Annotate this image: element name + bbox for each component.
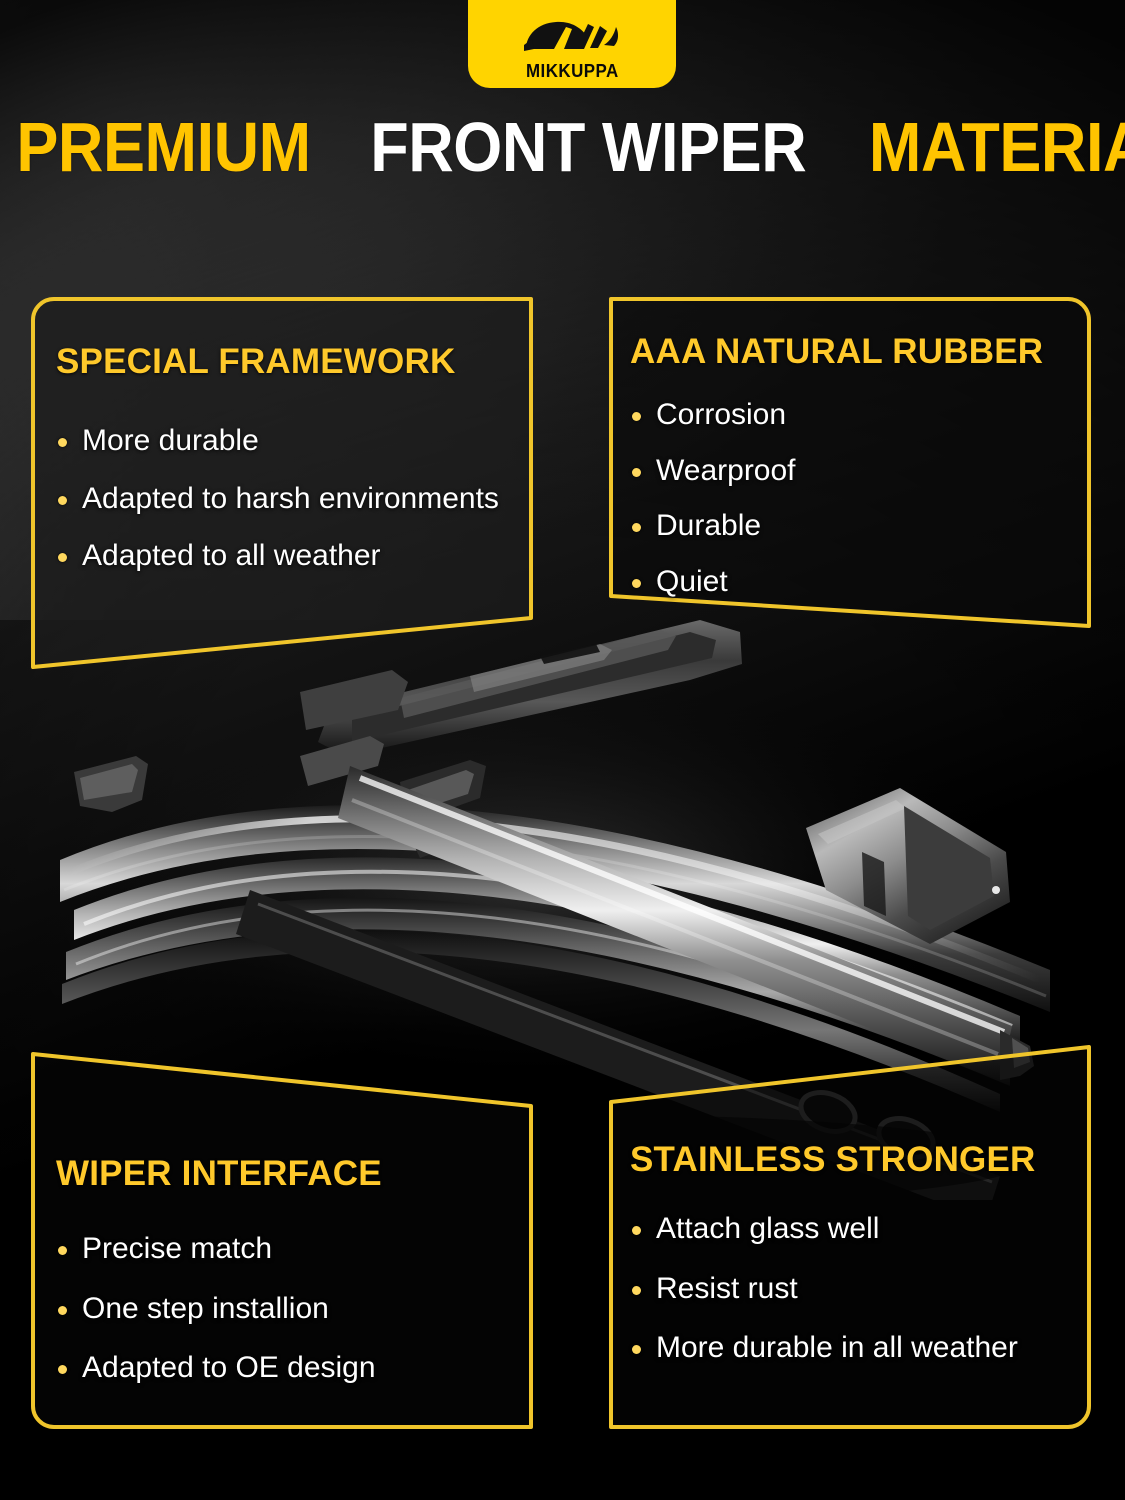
- bullet-item: Quiet: [630, 565, 1092, 599]
- feature-box-stainless-stronger: STAINLESS STRONGER Attach glass well Res…: [608, 1044, 1092, 1430]
- bullet-item: Adapted to all weather: [56, 539, 534, 573]
- bullet-item: Wearproof: [630, 454, 1092, 488]
- feature-title: STAINLESS STRONGER: [630, 1140, 1092, 1180]
- feature-title: SPECIAL FRAMEWORK: [56, 342, 534, 382]
- bullet-item: More durable: [56, 424, 534, 458]
- feature-title: WIPER INTERFACE: [56, 1154, 534, 1194]
- title-part-front-wiper: FRONT WIPER: [370, 112, 806, 182]
- hedgehog-mark: [520, 15, 624, 61]
- feature-box-aaa-natural-rubber: AAA NATURAL RUBBER Corrosion Wearproof D…: [608, 296, 1092, 670]
- bullet-item: Durable: [630, 509, 1092, 543]
- page-title: PREMIUM FRONT WIPER MATERIALS: [0, 112, 1125, 182]
- feature-bullet-list: Corrosion Wearproof Durable Quiet: [630, 398, 1092, 598]
- feature-title: AAA NATURAL RUBBER: [630, 332, 1092, 372]
- bullet-item: More durable in all weather: [630, 1331, 1092, 1365]
- brand-logo-badge[interactable]: MIKKUPPA: [468, 0, 676, 88]
- feature-bullet-list: Attach glass well Resist rust More durab…: [630, 1212, 1092, 1365]
- bullet-item: Attach glass well: [630, 1212, 1092, 1246]
- bullet-item: Adapted to harsh environments: [56, 482, 534, 516]
- feature-bullet-list: Precise match One step installion Adapte…: [56, 1232, 534, 1385]
- feature-box-wiper-interface: WIPER INTERFACE Precise match One step i…: [30, 1044, 534, 1430]
- bullet-item: Precise match: [56, 1232, 534, 1266]
- bullet-item: Adapted to OE design: [56, 1351, 534, 1385]
- feature-box-special-framework: SPECIAL FRAMEWORK More durable Adapted t…: [30, 296, 534, 670]
- bullet-item: One step installion: [56, 1292, 534, 1326]
- title-part-materials: MATERIALS: [869, 112, 1125, 182]
- bullet-item: Corrosion: [630, 398, 1092, 432]
- brand-name: MIKKUPPA: [526, 62, 619, 80]
- feature-bullet-list: More durable Adapted to harsh environmen…: [56, 424, 534, 573]
- bullet-item: Resist rust: [630, 1272, 1092, 1306]
- product-infographic: MIKKUPPA PREMIUM FRONT WIPER MATERIALS S…: [0, 0, 1125, 1500]
- title-part-premium: PREMIUM: [16, 112, 310, 182]
